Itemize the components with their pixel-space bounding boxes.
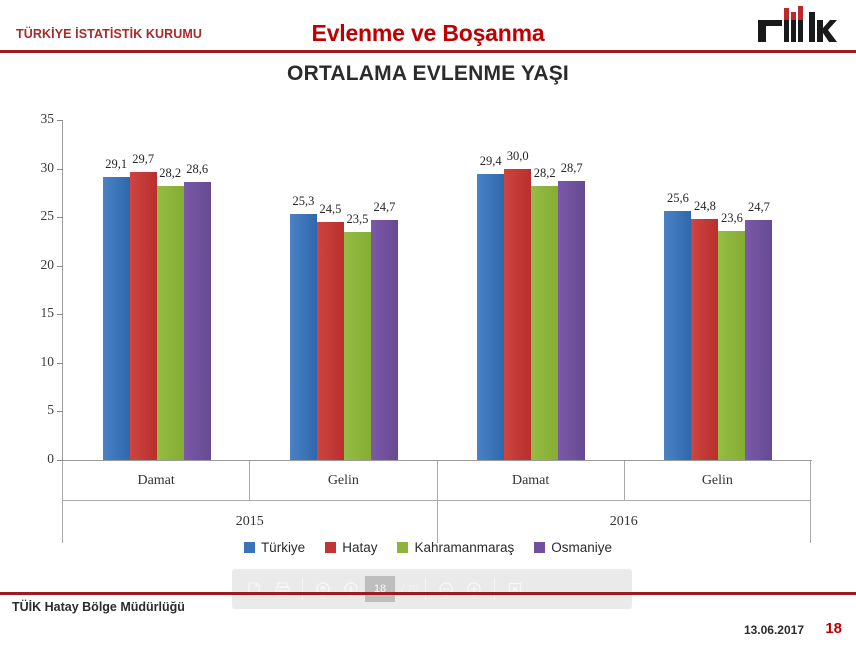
category-axis: DamatGelinDamatGelin20152016 — [62, 461, 812, 543]
bar-value-label: 24,8 — [694, 199, 716, 214]
bar-value-label: 24,7 — [748, 200, 770, 215]
bar-value-label: 29,1 — [105, 157, 127, 172]
category-label: Damat — [512, 473, 549, 489]
bar: 28,7 — [558, 181, 585, 460]
y-axis-tick-label: 30 — [20, 160, 54, 176]
bar-value-label: 25,6 — [667, 191, 689, 206]
bar-value-label: 25,3 — [292, 194, 314, 209]
bar: 23,5 — [344, 232, 371, 460]
bar: 25,6 — [664, 211, 691, 460]
header-divider — [0, 50, 856, 53]
y-axis-tick-label: 15 — [20, 305, 54, 321]
y-axis-tick-label: 10 — [20, 354, 54, 370]
y-axis-tick-label: 0 — [20, 451, 54, 467]
toolbar-separator — [425, 578, 426, 600]
legend-item: Türkiye — [244, 540, 305, 555]
bar: 24,5 — [317, 222, 344, 460]
footer-divider — [0, 592, 856, 595]
bar-group: 29,430,028,228,7 — [438, 120, 625, 460]
category-label: Gelin — [702, 473, 733, 489]
download-icon[interactable] — [240, 575, 268, 603]
legend-label: Hatay — [342, 540, 377, 555]
legend-label: Osmaniye — [551, 540, 612, 555]
bar-group: 25,324,523,524,7 — [250, 120, 437, 460]
category-label-cell: Damat — [62, 461, 249, 501]
zoom-out-icon[interactable] — [432, 575, 460, 603]
bar-value-label: 28,2 — [534, 166, 556, 181]
bar: 28,2 — [531, 186, 558, 460]
plot-area: 29,129,728,228,625,324,523,524,729,430,0… — [63, 120, 812, 460]
slide-header: TÜRKİYE İSTATİSTİK KURUMU Evlenme ve Boş… — [0, 0, 856, 52]
bar-value-label: 23,6 — [721, 211, 743, 226]
chart-title: ORTALAMA EVLENME YAŞI — [0, 62, 856, 86]
zoom-in-icon[interactable] — [460, 575, 488, 603]
bar: 28,6 — [184, 182, 211, 460]
toolbar-separator — [302, 578, 303, 600]
bar-value-label: 24,7 — [373, 200, 395, 215]
print-icon[interactable] — [268, 575, 296, 603]
bar-value-label: 24,5 — [319, 202, 341, 217]
bar: 29,7 — [130, 172, 157, 461]
bar-value-label: 23,5 — [346, 212, 368, 227]
pdf-viewer-toolbar[interactable]: 18 / 70 — [232, 569, 632, 609]
bar-value-label: 30,0 — [507, 149, 529, 164]
bar-value-label: 28,7 — [561, 161, 583, 176]
footer-date: 13.06.2017 — [744, 623, 804, 637]
chart: 05101520253035 29,129,728,228,625,324,52… — [0, 110, 856, 560]
bar-value-label: 29,7 — [132, 152, 154, 167]
legend-item: Hatay — [325, 540, 377, 555]
bar: 24,7 — [745, 220, 772, 460]
y-axis-tick-label: 5 — [20, 402, 54, 418]
bar-value-label: 29,4 — [480, 154, 502, 169]
toolbar-separator — [494, 578, 495, 600]
y-axis-tick-label: 35 — [20, 111, 54, 127]
y-axis-tick-label: 20 — [20, 257, 54, 273]
bar: 23,6 — [718, 231, 745, 460]
year-label: 2015 — [236, 514, 264, 530]
chart-legend: TürkiyeHatayKahramanmaraşOsmaniye — [0, 540, 856, 555]
fit-page-icon[interactable] — [501, 575, 529, 603]
slide-root: TÜRKİYE İSTATİSTİK KURUMU Evlenme ve Boş… — [0, 0, 856, 645]
y-axis-tick-label: 25 — [20, 208, 54, 224]
legend-swatch — [244, 542, 255, 553]
bar-group: 29,129,728,228,6 — [63, 120, 250, 460]
year-label-cell: 2015 — [62, 501, 437, 543]
page-down-icon[interactable] — [337, 575, 365, 603]
category-label-cell: Damat — [437, 461, 624, 501]
presentation-title: Evlenme ve Boşanma — [0, 20, 856, 47]
legend-label: Kahramanmaraş — [414, 540, 514, 555]
footer-page-number: 18 — [825, 620, 842, 637]
bar-value-label: 28,2 — [159, 166, 181, 181]
bar: 29,4 — [477, 174, 504, 460]
bar: 28,2 — [157, 186, 184, 460]
bar: 30,0 — [504, 169, 531, 460]
legend-swatch — [534, 542, 545, 553]
legend-swatch — [325, 542, 336, 553]
tuik-logo — [754, 6, 838, 46]
legend-swatch — [397, 542, 408, 553]
bar: 24,7 — [371, 220, 398, 460]
category-label: Gelin — [328, 473, 359, 489]
page-up-icon[interactable] — [309, 575, 337, 603]
category-label-cell: Gelin — [249, 461, 436, 501]
tuik-logo-icon — [754, 6, 838, 46]
bar: 29,1 — [103, 177, 130, 460]
bar: 24,8 — [691, 219, 718, 460]
year-label-cell: 2016 — [437, 501, 812, 543]
bar-group: 25,624,823,624,7 — [625, 120, 812, 460]
footer-organization: TÜİK Hatay Bölge Müdürlüğü — [12, 600, 185, 614]
category-label-cell: Gelin — [624, 461, 811, 501]
year-label: 2016 — [610, 514, 638, 530]
legend-item: Osmaniye — [534, 540, 612, 555]
legend-item: Kahramanmaraş — [397, 540, 514, 555]
bar: 25,3 — [290, 214, 317, 460]
page-number-input[interactable]: 18 — [365, 576, 395, 602]
category-label: Damat — [137, 473, 174, 489]
legend-label: Türkiye — [261, 540, 305, 555]
bar-value-label: 28,6 — [186, 162, 208, 177]
